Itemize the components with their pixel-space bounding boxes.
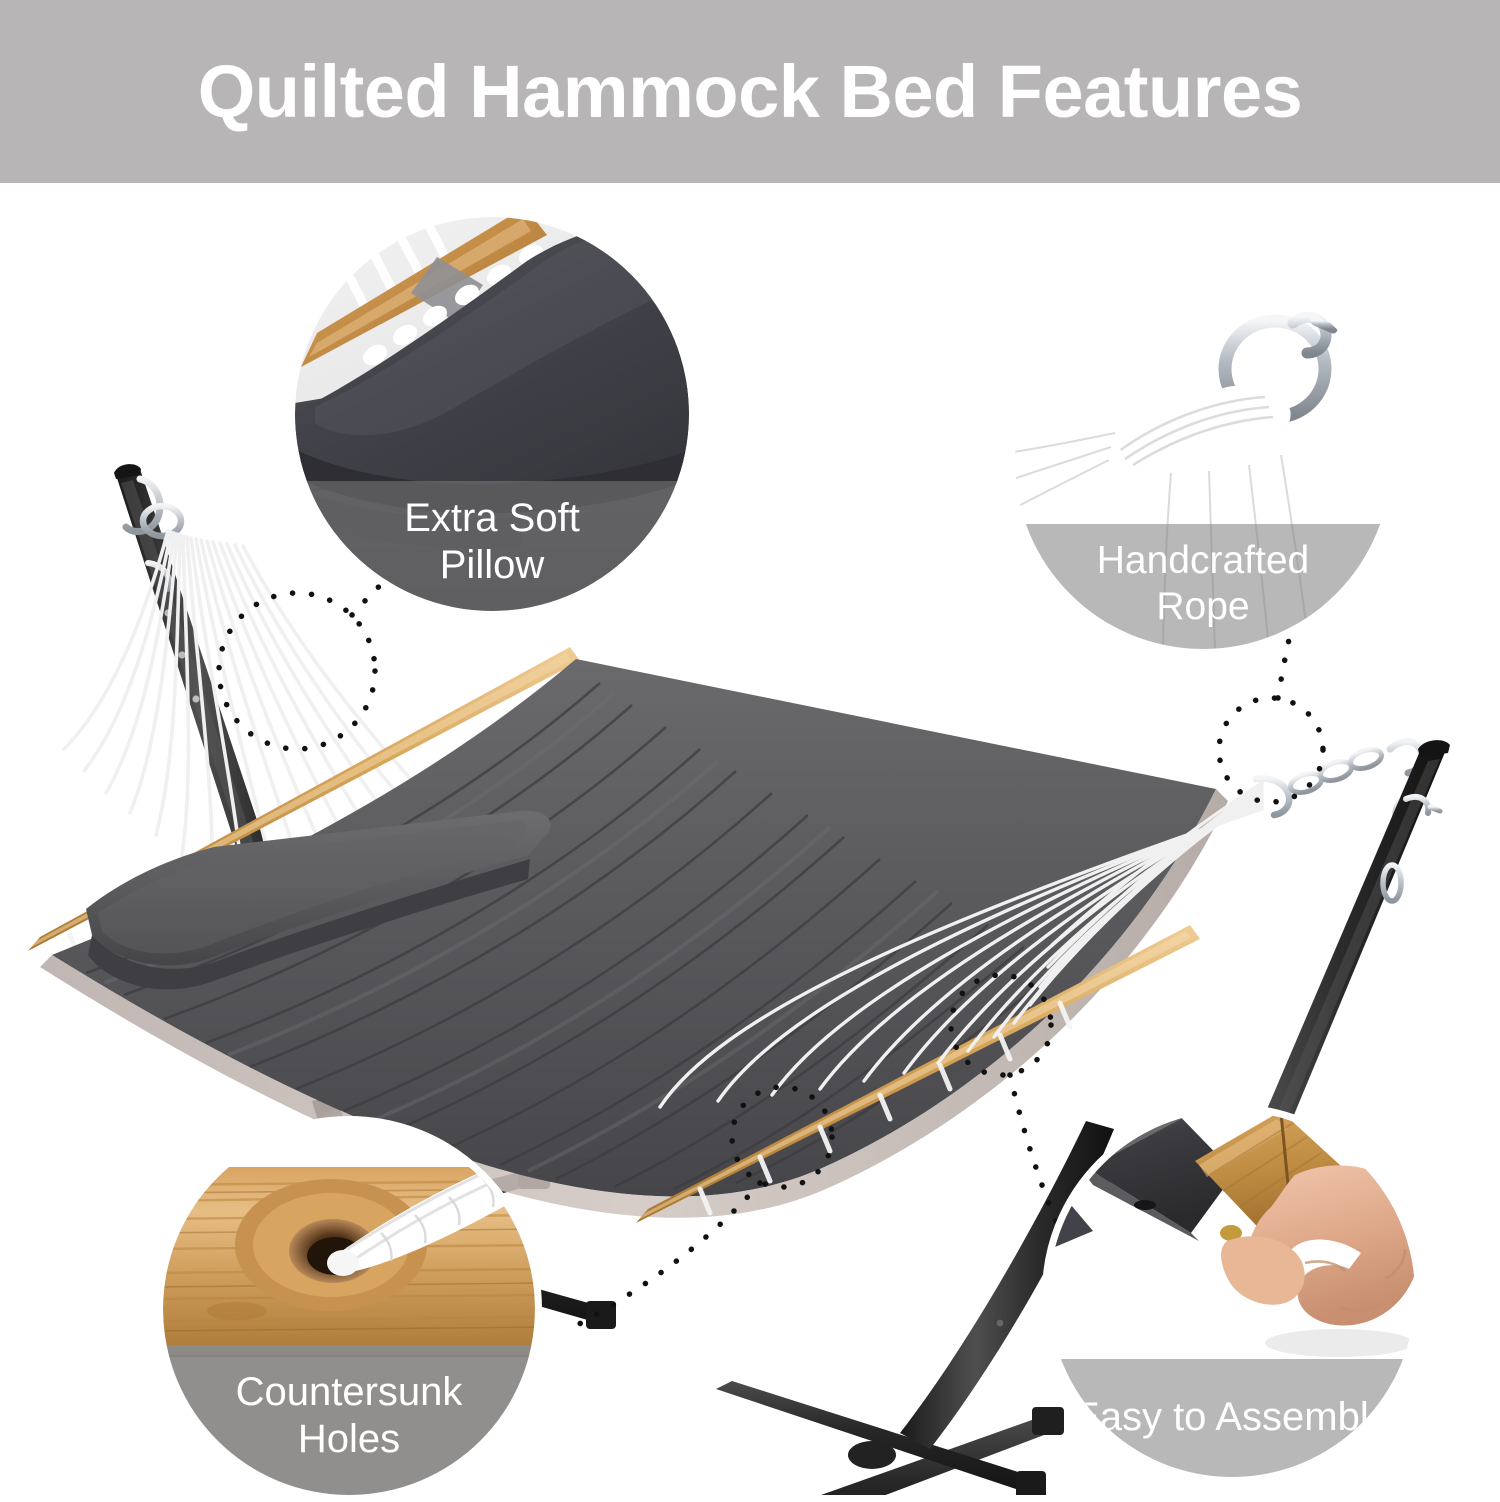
callout-caption-assemble: Easy to Assemble	[1049, 1359, 1415, 1477]
caption-line-1: Countersunk	[236, 1369, 463, 1416]
callout-countersunk-holes[interactable]: Countersunk Holes	[156, 1116, 542, 1502]
callout-caption-holes: Countersunk Holes	[163, 1355, 535, 1495]
callout-layer: Extra Soft Pillow	[0, 0, 1500, 1495]
callout-extra-soft-pillow[interactable]: Extra Soft Pillow	[288, 210, 696, 618]
caption-line-2: Holes	[298, 1416, 400, 1463]
caption-line-2: Rope	[1156, 584, 1249, 630]
caption-line-1: Handcrafted	[1097, 538, 1309, 584]
caption-line-2: Pillow	[440, 542, 544, 589]
callout-handcrafted-rope[interactable]: Handcrafted Rope	[1008, 266, 1398, 656]
caption-line-1: Easy to Assemble	[1073, 1394, 1391, 1441]
callout-easy-to-assemble[interactable]: Easy to Assemble	[1042, 1104, 1422, 1484]
callout-caption-pillow: Extra Soft Pillow	[295, 481, 689, 611]
callout-caption-rope: Handcrafted Rope	[1015, 524, 1391, 649]
caption-line-1: Extra Soft	[404, 495, 580, 542]
